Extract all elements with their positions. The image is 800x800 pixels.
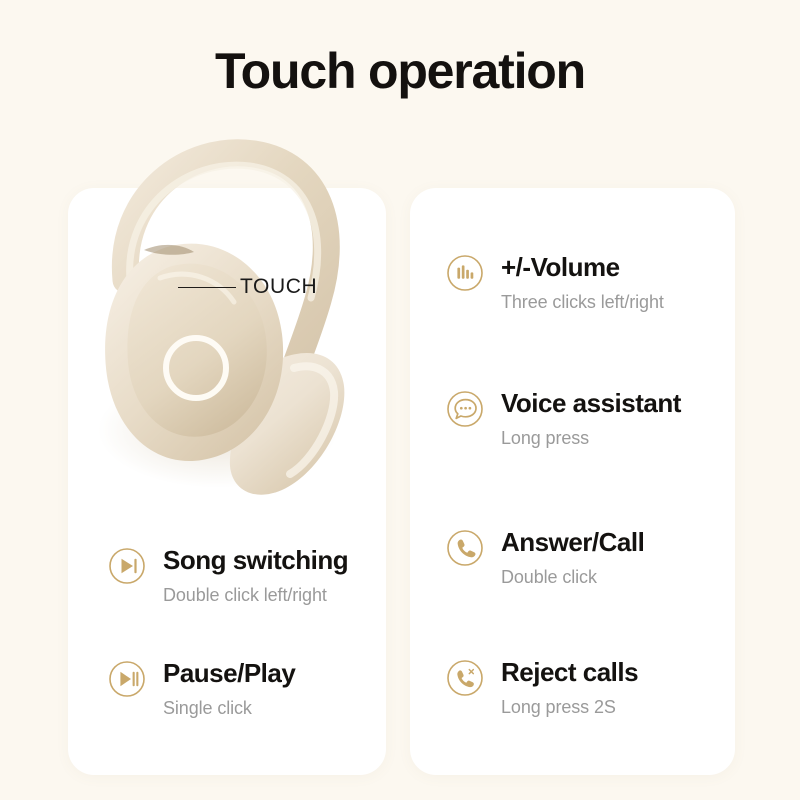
speech-bubble-icon bbox=[446, 390, 484, 428]
phone-handset-icon bbox=[446, 529, 484, 567]
feature-title: Song switching bbox=[163, 545, 348, 575]
feature-text: Answer/Call Double click bbox=[501, 527, 644, 588]
feature-title: Voice assistant bbox=[501, 388, 681, 418]
feature-voice-assistant: Voice assistant Long press bbox=[446, 388, 681, 449]
feature-title: +/-Volume bbox=[501, 252, 664, 282]
touch-callout-line bbox=[178, 287, 236, 288]
infographic-page: Touch operation bbox=[0, 0, 800, 800]
phone-reject-icon bbox=[446, 659, 484, 697]
volume-bars-icon bbox=[446, 254, 484, 292]
feature-title: Answer/Call bbox=[501, 527, 644, 557]
touch-callout-label: TOUCH bbox=[240, 275, 317, 299]
next-track-icon bbox=[108, 547, 146, 585]
feature-subtitle: Three clicks left/right bbox=[501, 291, 664, 313]
feature-pause-play: Pause/Play Single click bbox=[108, 658, 295, 719]
feature-text: Song switching Double click left/right bbox=[163, 545, 348, 606]
feature-subtitle: Double click bbox=[501, 566, 644, 588]
feature-volume: +/-Volume Three clicks left/right bbox=[446, 252, 664, 313]
feature-subtitle: Long press bbox=[501, 427, 681, 449]
feature-answer-call: Answer/Call Double click bbox=[446, 527, 644, 588]
play-pause-icon bbox=[108, 660, 146, 698]
feature-title: Pause/Play bbox=[163, 658, 295, 688]
feature-reject-calls: Reject calls Long press 2S bbox=[446, 657, 638, 718]
feature-text: Voice assistant Long press bbox=[501, 388, 681, 449]
feature-text: Pause/Play Single click bbox=[163, 658, 295, 719]
feature-text: Reject calls Long press 2S bbox=[501, 657, 638, 718]
feature-title: Reject calls bbox=[501, 657, 638, 687]
feature-subtitle: Single click bbox=[163, 697, 295, 719]
page-title: Touch operation bbox=[0, 42, 800, 100]
feature-song-switching: Song switching Double click left/right bbox=[108, 545, 348, 606]
feature-subtitle: Double click left/right bbox=[163, 584, 348, 606]
feature-text: +/-Volume Three clicks left/right bbox=[501, 252, 664, 313]
feature-subtitle: Long press 2S bbox=[501, 696, 638, 718]
